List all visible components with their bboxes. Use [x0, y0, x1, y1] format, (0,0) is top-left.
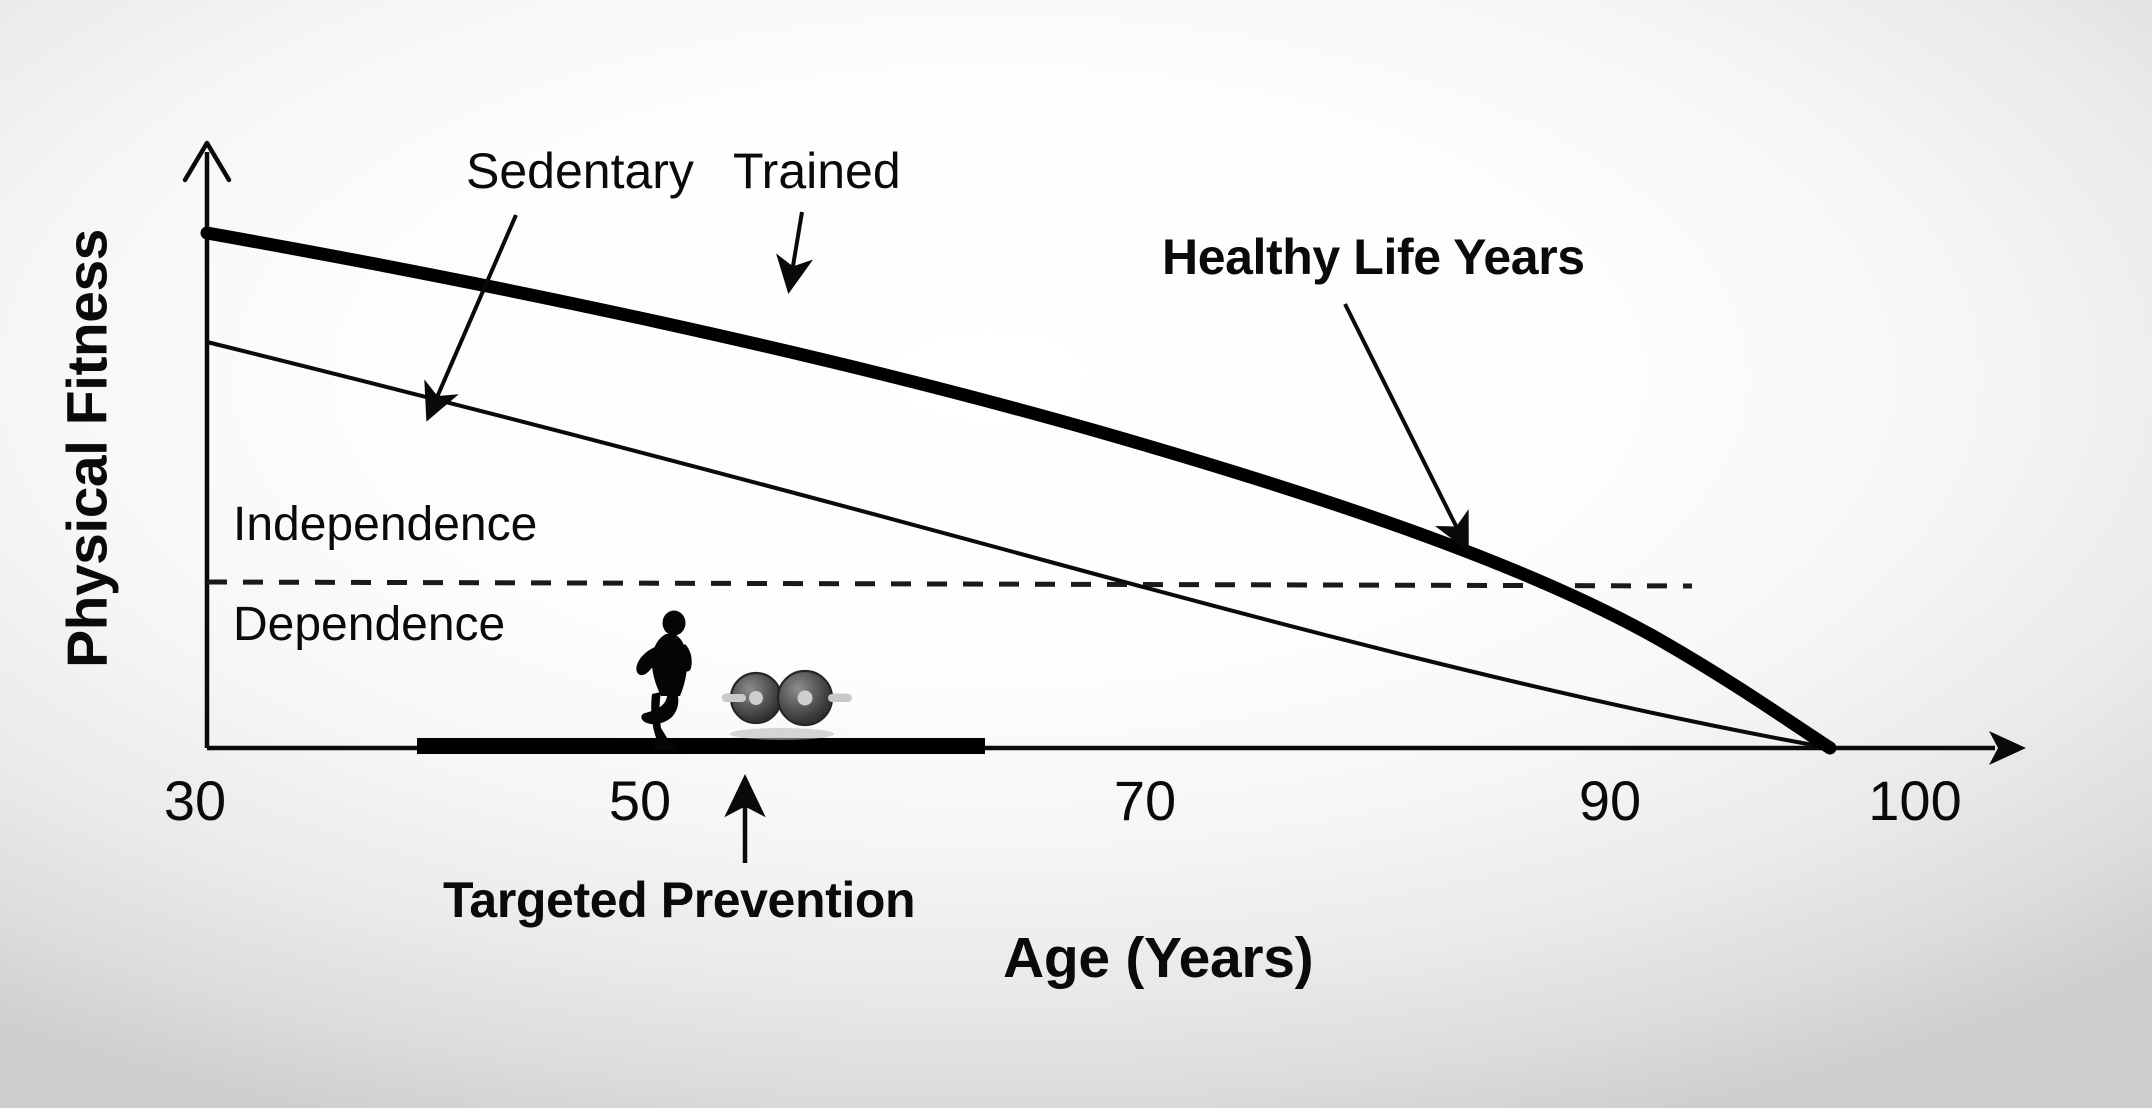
sedentary-annotation-arrow — [428, 215, 516, 418]
trained-curve — [207, 233, 1830, 748]
x-tick-label: 90 — [1530, 768, 1690, 833]
x-tick-label: 70 — [1065, 768, 1225, 833]
healthy-life-years-label: Healthy Life Years — [1162, 232, 1585, 282]
figure-canvas: Physical Fitness Age (Years) Sedentary T… — [0, 0, 2152, 1108]
dependence-label: Dependence — [233, 601, 505, 649]
dumbbell-icon — [716, 655, 856, 741]
independence-threshold-line — [207, 582, 1692, 586]
x-tick-label: 50 — [560, 768, 720, 833]
targeted-prevention-label: Targeted Prevention — [443, 875, 915, 925]
x-axis-title: Age (Years) — [1003, 930, 1313, 987]
axis-lines — [185, 143, 2026, 765]
y-axis-title: Physical Fitness — [60, 219, 117, 679]
x-tick-label: 30 — [115, 768, 275, 833]
independence-label: Independence — [233, 501, 537, 549]
x-tick-label: 100 — [1835, 768, 1995, 833]
runner-icon — [628, 610, 714, 750]
sedentary-label: Sedentary — [466, 146, 694, 196]
trained-annotation-arrow — [789, 212, 802, 290]
trained-label: Trained — [733, 146, 901, 196]
